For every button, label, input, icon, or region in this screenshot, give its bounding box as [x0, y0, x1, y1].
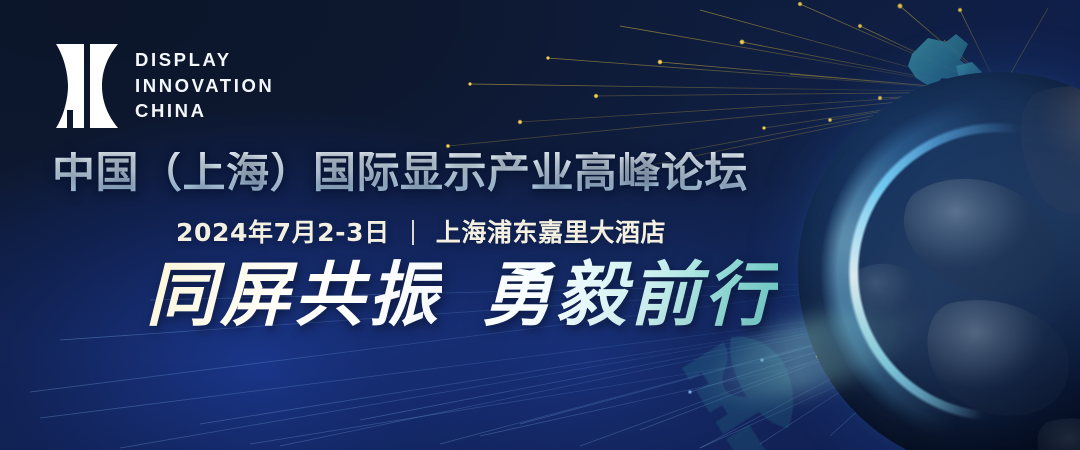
event-details: 2024年7月2-3日 上海浦东嘉里大酒店: [176, 220, 666, 245]
logo-line-2: INNOVATION: [135, 75, 274, 98]
globe-sphere: [798, 72, 1080, 450]
china-map-polygon: [898, 26, 1018, 134]
dic-logo[interactable]: DISPLAY INNOVATION CHINA: [56, 44, 274, 128]
globe-landmass: [798, 72, 1080, 450]
event-date: 2024年7月2-3日: [176, 220, 390, 245]
dic-logo-text: DISPLAY INNOVATION CHINA: [135, 49, 274, 123]
logo-line-3: CHINA: [135, 100, 274, 123]
globe-rim-glow-outer: [788, 62, 1080, 450]
event-slogan: 同屏共振 勇毅前行: [146, 258, 778, 332]
page-title: 中国（上海）国际显示产业高峰论坛: [52, 152, 748, 195]
detail-separator: [412, 220, 414, 245]
event-venue: 上海浦东嘉里大酒店: [436, 220, 666, 245]
globe-atmosphere-halo: [746, 20, 1080, 450]
logo-line-1: DISPLAY: [135, 49, 274, 72]
dic-monogram-icon: [56, 44, 118, 128]
event-banner: DISPLAY INNOVATION CHINA 中国（上海）国际显示产业高峰论…: [0, 0, 1080, 450]
slogan-part-two: 勇毅前行: [482, 258, 778, 332]
globe-rim-light: [795, 69, 1080, 450]
slogan-part-one: 同屏共振: [146, 258, 442, 332]
earth-globe: [798, 72, 1080, 450]
